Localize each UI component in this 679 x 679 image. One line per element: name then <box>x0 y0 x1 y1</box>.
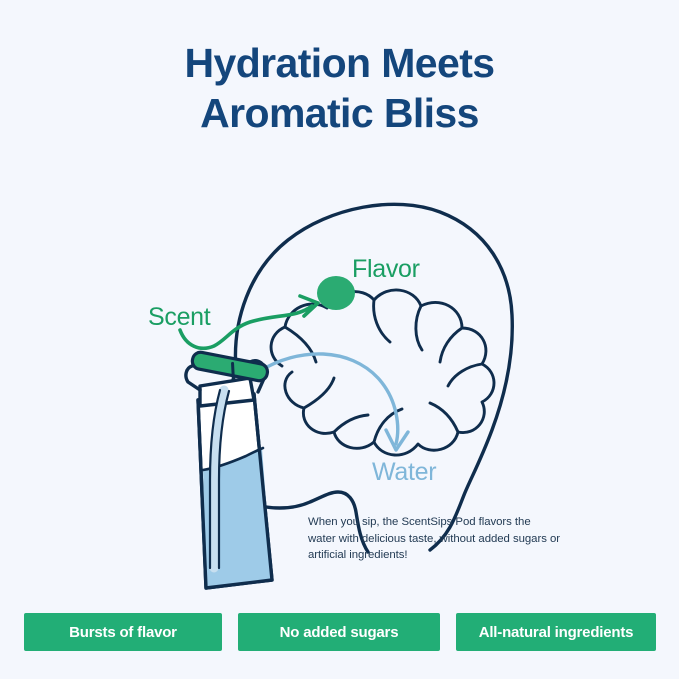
scent-label: Scent <box>148 303 211 331</box>
water-bottle <box>186 351 272 588</box>
page-title: Hydration Meets Aromatic Bliss <box>0 38 679 138</box>
flavor-dot <box>317 276 355 310</box>
infographic-page: Hydration Meets Aromatic Bliss <box>0 0 679 679</box>
caption-text: When you sip, the ScentSips Pod flavors … <box>308 514 560 564</box>
badge-all-natural-ingredients[interactable]: All-natural ingredients <box>456 613 656 651</box>
feature-badges: Bursts of flavor No added sugars All-nat… <box>24 613 656 653</box>
flavor-label: Flavor <box>352 255 420 283</box>
water-label: Water <box>372 458 436 486</box>
badge-no-added-sugars[interactable]: No added sugars <box>238 613 440 651</box>
scentsips-pod <box>191 351 269 382</box>
pod-body <box>191 351 269 382</box>
page-title-line-2: Aromatic Bliss <box>0 88 679 138</box>
badge-bursts-of-flavor[interactable]: Bursts of flavor <box>24 613 222 651</box>
page-title-line-1: Hydration Meets <box>0 38 679 88</box>
